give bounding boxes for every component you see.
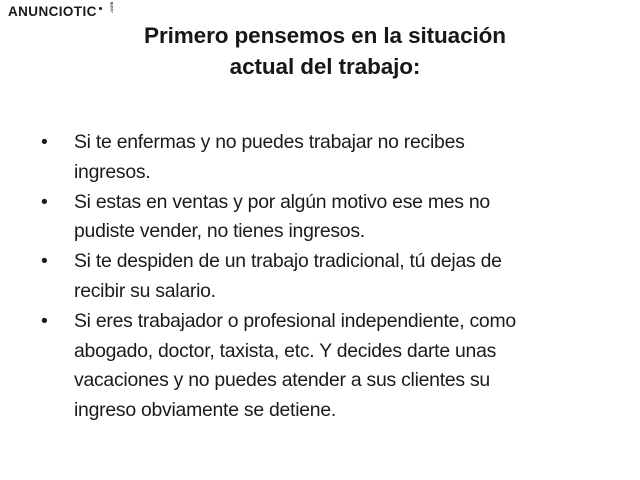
bullet-line: abogado, doctor, taxista, etc. Y decides…: [74, 337, 616, 367]
bullet-marker-icon: •: [41, 188, 53, 218]
bullet-line: vacaciones y no puedes atender a sus cli…: [74, 366, 616, 396]
bullet-item: • Si eres trabajador o profesional indep…: [36, 307, 616, 426]
bullet-item: • Si estas en ventas y por algún motivo …: [36, 188, 616, 248]
bullet-line: pudiste vender, no tienes ingresos.: [74, 217, 616, 247]
bullet-text: Si te enfermas y no puedes trabajar no r…: [74, 128, 616, 188]
slide-title-line-2: actual del trabajo:: [90, 51, 560, 82]
bullet-line: Si te despiden de un trabajo tradicional…: [74, 247, 616, 277]
bullet-line: Si estas en ventas y por algún motivo es…: [74, 188, 616, 218]
bullet-text: Si te despiden de un trabajo tradicional…: [74, 247, 616, 307]
slide-canvas: ANUNCIOTIC .com ANUNCIOTIC .com Primero …: [0, 0, 640, 480]
bullet-item: • Si te despiden de un trabajo tradicion…: [36, 247, 616, 307]
bullet-line: ingresos.: [74, 158, 616, 188]
slide-title-line-1: Primero pensemos en la situación: [90, 20, 560, 51]
bullet-item: • Si te enfermas y no puedes trabajar no…: [36, 128, 616, 188]
bullet-line: recibir su salario.: [74, 277, 616, 307]
bullet-line: Si eres trabajador o profesional indepen…: [74, 307, 616, 337]
bullet-text: Si eres trabajador o profesional indepen…: [74, 307, 616, 426]
logo-dot-icon: [99, 7, 102, 10]
bullet-marker-icon: •: [41, 307, 53, 337]
slide-title: Primero pensemos en la situación actual …: [90, 20, 560, 82]
logo-wordmark: ANUNCIOTIC: [8, 5, 97, 19]
bullet-marker-icon: •: [41, 128, 53, 158]
bullet-line: ingreso obviamente se detiene.: [74, 396, 616, 426]
bullet-marker-icon: •: [41, 247, 53, 277]
bullet-text: Si estas en ventas y por algún motivo es…: [74, 188, 616, 248]
bullet-list: • Si te enfermas y no puedes trabajar no…: [36, 128, 616, 426]
bullet-line: Si te enfermas y no puedes trabajar no r…: [74, 128, 616, 158]
logo-main: ANUNCIOTIC: [8, 5, 102, 19]
logo-tld-label: .com: [109, 1, 114, 13]
